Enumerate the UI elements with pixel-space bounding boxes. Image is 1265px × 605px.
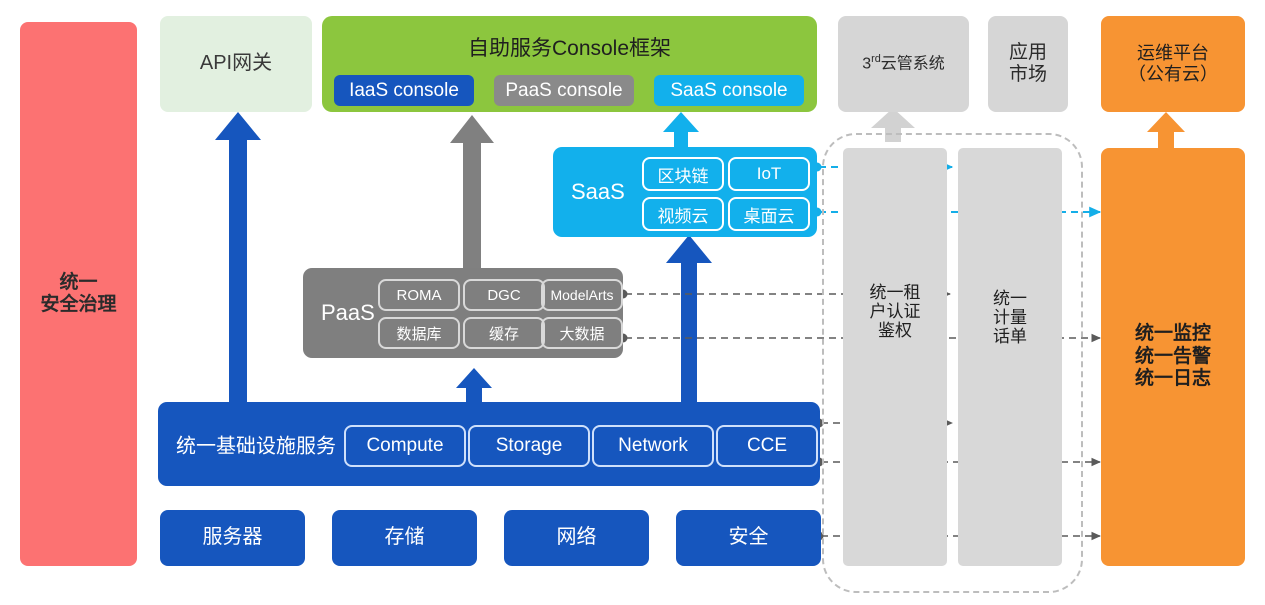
api-gateway-box: API网关 (160, 16, 312, 112)
paas-console-chip[interactable]: PaaS console (494, 75, 634, 106)
arrow-iaas-to-paas (456, 368, 492, 405)
third-party-cloud-mgmt-box: 3rd云管系统 (838, 16, 969, 112)
security-governance-panel: 统一 安全治理 (20, 22, 137, 566)
unified-tenant-auth-bar (843, 148, 947, 566)
arrow-iaas-to-saas (666, 235, 712, 405)
console-framework-title: 自助服务Console框架 (322, 32, 817, 62)
saas-panel: SaaS 区块链 IoT 视频云 桌面云 (553, 147, 817, 237)
saas-console-chip[interactable]: SaaS console (654, 75, 804, 106)
paas-chip-roma[interactable]: ROMA (378, 279, 460, 311)
paas-chip-bigdata[interactable]: 大数据 (541, 317, 623, 349)
iaas-chip-network[interactable]: Network (592, 425, 714, 467)
console-framework-panel: 自助服务Console框架 IaaS console PaaS console … (322, 16, 817, 112)
iaas-console-chip[interactable]: IaaS console (334, 75, 474, 106)
paas-chip-database[interactable]: 数据库 (378, 317, 460, 349)
unified-tenant-auth-label: 统一租 户认证 鉴权 (843, 283, 947, 340)
unified-infrastructure-label: 统一基础设施服务 (176, 430, 336, 459)
diagram-canvas: 统一 安全治理 API网关 自助服务Console框架 IaaS console… (0, 0, 1265, 605)
ops-platform-box: 运维平台 （公有云） (1101, 16, 1245, 112)
saas-chip-blockchain[interactable]: 区块链 (642, 157, 724, 191)
iaas-chip-cce[interactable]: CCE (716, 425, 818, 467)
iaas-chip-storage[interactable]: Storage (468, 425, 590, 467)
arrow-opsstack-to-opsplatform (1147, 112, 1185, 148)
resource-box-network: 网络 (504, 510, 649, 566)
saas-chip-video-cloud[interactable]: 视频云 (642, 197, 724, 231)
arrow-saas-to-saas-console (663, 112, 699, 148)
paas-panel: PaaS ROMA DGC ModelArts 数据库 缓存 大数据 (303, 268, 623, 358)
unified-metering-bar (958, 148, 1062, 566)
paas-chip-modelarts[interactable]: ModelArts (541, 279, 623, 311)
paas-chip-cache[interactable]: 缓存 (463, 317, 545, 349)
paas-chip-dgc[interactable]: DGC (463, 279, 545, 311)
iaas-chip-compute[interactable]: Compute (344, 425, 466, 467)
ops-stack-panel: 统一监控 统一告警 统一日志 (1101, 148, 1245, 566)
arrow-paas-to-console (450, 115, 494, 268)
paas-label: PaaS (321, 300, 375, 326)
resource-box-security: 安全 (676, 510, 821, 566)
saas-chip-iot[interactable]: IoT (728, 157, 810, 191)
arrow-iaas-to-api-gateway (215, 112, 261, 405)
saas-label: SaaS (571, 179, 625, 205)
saas-chip-desktop-cloud[interactable]: 桌面云 (728, 197, 810, 231)
unified-metering-label: 统一 计量 话单 (958, 289, 1062, 346)
resource-box-storage: 存储 (332, 510, 477, 566)
unified-infrastructure-bar: 统一基础设施服务 Compute Storage Network CCE (158, 402, 820, 486)
resource-box-server: 服务器 (160, 510, 305, 566)
third-party-label: 3rd云管系统 (862, 53, 945, 74)
app-market-box: 应用 市场 (988, 16, 1068, 112)
